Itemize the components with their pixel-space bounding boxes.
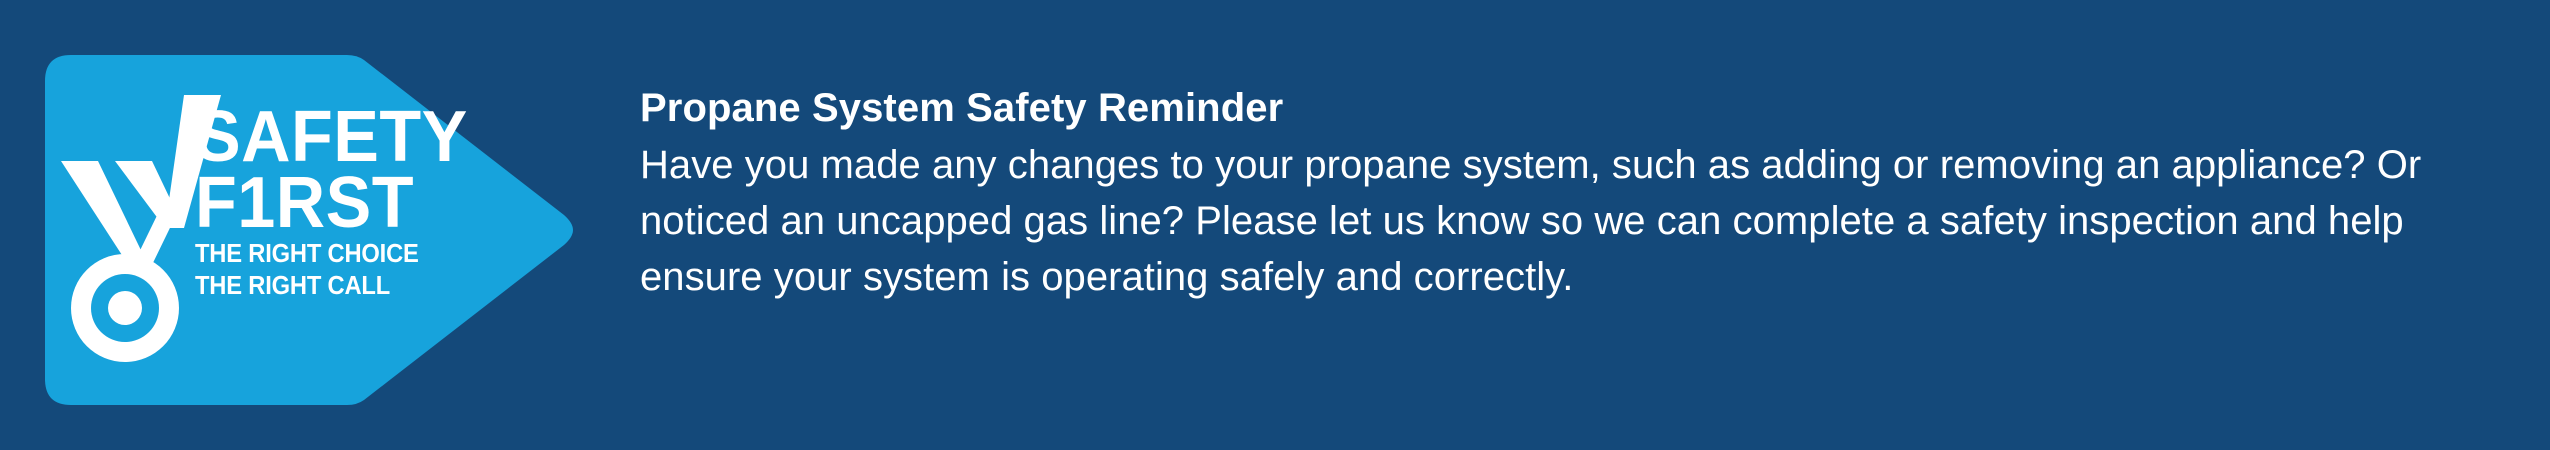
logo-lockup: SAFETY F1RST THE RIGHT CHOICE THE RIGHT … bbox=[45, 55, 573, 405]
message-title: Propane System Safety Reminder bbox=[640, 84, 2500, 133]
target-bullseye-icon bbox=[71, 254, 179, 362]
logo-wordmark: SAFETY F1RST THE RIGHT CHOICE THE RIGHT … bbox=[195, 107, 525, 299]
message-body: Have you made any changes to your propan… bbox=[640, 137, 2500, 305]
message-block: Propane System Safety Reminder Have you … bbox=[640, 84, 2500, 305]
tagline-the-right-call: THE RIGHT CALL bbox=[195, 273, 502, 299]
wordmark-safety: SAFETY bbox=[195, 107, 509, 169]
safety-reminder-banner: SAFETY F1RST THE RIGHT CHOICE THE RIGHT … bbox=[0, 0, 2550, 450]
wordmark-first: F1RST bbox=[195, 173, 509, 235]
safety-first-logo-badge: SAFETY F1RST THE RIGHT CHOICE THE RIGHT … bbox=[45, 55, 573, 405]
tagline-the-right-choice: THE RIGHT CHOICE bbox=[195, 241, 502, 267]
